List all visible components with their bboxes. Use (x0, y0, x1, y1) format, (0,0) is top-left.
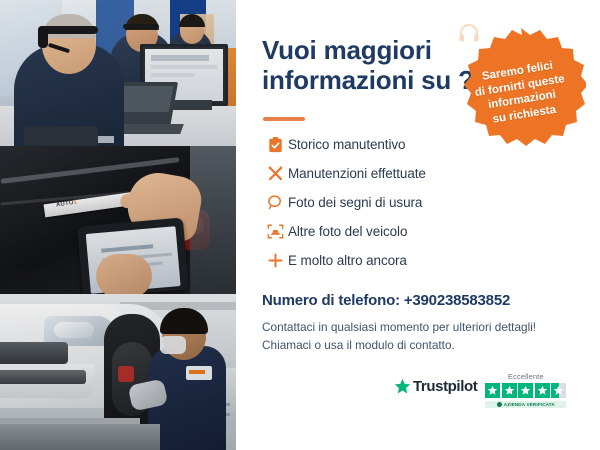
magnifier-icon (262, 194, 288, 211)
trustpilot-rating: Eccellente (485, 372, 566, 408)
feature-list: Storico manutentivo Manutenzioni effettu… (262, 130, 512, 275)
phone-line: Numero di telefono: +390238583852 (262, 292, 562, 309)
trustpilot-widget[interactable]: Trustpilot Eccellente (394, 372, 589, 408)
feature-label: Storico manutentivo (288, 137, 405, 152)
plus-icon (262, 252, 288, 269)
trustpilot-brand: Trustpilot (413, 378, 477, 395)
feature-item-manutenzioni: Manutenzioni effettuate (262, 159, 512, 188)
star-3 (518, 383, 533, 398)
star-2 (502, 383, 517, 398)
scan-car-icon (262, 223, 288, 240)
trustpilot-logo: Trustpilot (394, 378, 477, 395)
call-center-photo (0, 0, 236, 146)
contact-subtext-line-2: Chiamaci o usa il modulo di contatto. (262, 336, 562, 354)
star-4 (535, 383, 550, 398)
photo-column: AUTO1 (0, 0, 236, 450)
verified-label: AZIENDA VERIFICATA (504, 402, 555, 407)
contact-subtext-line-1: Contattaci in qualsiasi momento per ulte… (262, 318, 562, 336)
title-divider (263, 117, 305, 121)
headset-icon (456, 22, 482, 46)
advertisement-banner: AUTO1 (0, 0, 600, 450)
feature-label: Foto dei segni di usura (288, 195, 422, 210)
contact-subtext: Contattaci in qualsiasi momento per ulte… (262, 318, 562, 355)
content-panel: Vuoi maggiori informazioni su ? Saremo f… (236, 0, 600, 450)
verified-business-badge: AZIENDA VERIFICATA (485, 401, 566, 408)
photo-overlay (0, 0, 236, 146)
verified-check-icon (497, 402, 502, 407)
photo-overlay (0, 294, 236, 450)
feature-item-foto-usura: Foto dei segni di usura (262, 188, 512, 217)
vehicle-inspection-photo: AUTO1 (0, 146, 236, 294)
trustpilot-star-icon (394, 378, 411, 395)
feature-label: E molto altro ancora (288, 253, 407, 268)
rating-caption: Eccellente (485, 372, 566, 381)
clipboard-check-icon (262, 137, 288, 153)
feature-item-altre-foto: Altre foto del veicolo (262, 217, 512, 246)
star-rating (485, 383, 566, 398)
feature-item-altro: E molto altro ancora (262, 246, 512, 275)
wrench-cross-icon (262, 165, 288, 182)
feature-label: Manutenzioni effettuate (288, 166, 426, 181)
star-5 (551, 383, 566, 398)
star-1 (485, 383, 500, 398)
feature-item-storico: Storico manutentivo (262, 130, 512, 159)
wheel-service-photo (0, 294, 236, 450)
feature-label: Altre foto del veicolo (288, 224, 407, 239)
photo-overlay (0, 146, 236, 294)
